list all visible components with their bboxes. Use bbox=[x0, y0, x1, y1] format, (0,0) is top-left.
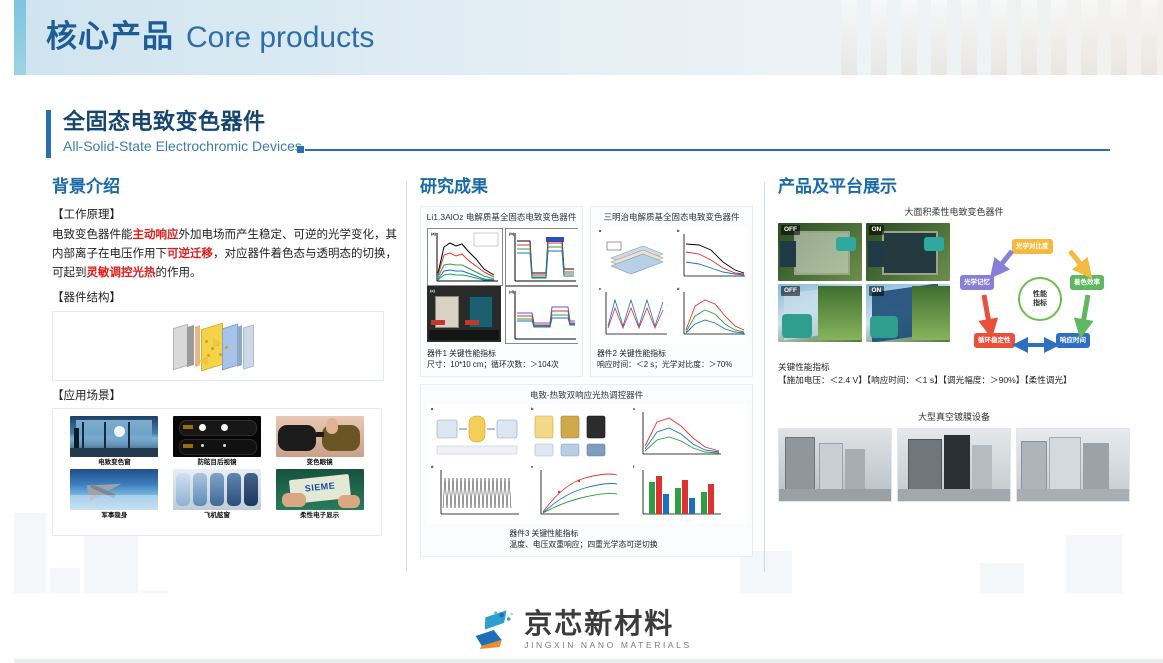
section-rule-dot bbox=[297, 146, 304, 153]
layer-transparent-conductor-1 bbox=[173, 324, 188, 371]
header-title-en: Core products bbox=[186, 21, 374, 54]
layer-transparent-conductor-2 bbox=[243, 324, 254, 369]
right-column-title: 产品及平台展示 bbox=[778, 176, 1130, 198]
scenario-caption: 电致变色窗 bbox=[65, 458, 164, 467]
logo-mark-icon bbox=[471, 610, 515, 650]
middle-column-title: 研究成果 bbox=[420, 176, 753, 198]
column-divider-1 bbox=[406, 182, 407, 572]
figure-panel-c-photo: (c) bbox=[427, 286, 501, 342]
left-edge-strip bbox=[0, 0, 14, 663]
scenario-image-flexible-display: SIEME bbox=[276, 469, 364, 510]
slide-footer: 京芯新材料 JINGXIN NANO MATERIALS bbox=[0, 593, 1163, 663]
result-card-1: Li1.3AlOz 电解质基全固态电致变色器件 (a) bbox=[420, 206, 583, 377]
result-card-1-header: Li1.3AlOz 电解质基全固态电致变色器件 bbox=[421, 207, 582, 226]
result-card-1-footer-detail: 尺寸：10*10 cm；循环次数：＞104次 bbox=[427, 359, 576, 370]
product-photo-on-2: ON bbox=[866, 284, 950, 342]
ion-flow-arrow-right bbox=[213, 338, 222, 348]
key-metrics-title: 关键性能指标 bbox=[778, 361, 1130, 374]
scenario-item: 电致变色窗 bbox=[65, 416, 164, 467]
footer-bar bbox=[0, 659, 1163, 663]
figure-panel-a: a bbox=[429, 406, 525, 461]
device-structure-figure bbox=[52, 311, 384, 381]
photo-state-badge: OFF bbox=[781, 286, 800, 296]
scenario-caption: 军事隐身 bbox=[65, 511, 164, 520]
key-metrics-detail: 【施加电压：＜2.4 V】【响应时间：＜1 s】【调光幅度：＞90%】【柔性调光… bbox=[778, 374, 1130, 387]
scenario-item: 飞机舷窗 bbox=[168, 469, 267, 520]
column-divider-2 bbox=[764, 182, 765, 572]
scene-label: 【应用场景】 bbox=[52, 387, 397, 405]
radial-node-coloration-efficiency: 着色效率 bbox=[1070, 275, 1104, 290]
result-card-1-footer-title: 器件1 关键性能指标 bbox=[427, 348, 576, 359]
slide-header: 核心产品Core products bbox=[0, 0, 1163, 75]
figure-panel-d: d bbox=[429, 464, 525, 522]
header-pillar-decoration bbox=[833, 0, 1163, 75]
scenario-image-electrochromic-window bbox=[70, 416, 158, 457]
principle-highlight-2: 可逆迁移 bbox=[167, 248, 213, 260]
radial-node-cycle-stability: 循环稳定性 bbox=[974, 333, 1015, 348]
result-card-2-figure: a b bbox=[595, 226, 748, 344]
principle-text-4: 的作用。 bbox=[156, 267, 202, 279]
product-photo-off-2: OFF bbox=[778, 284, 862, 342]
section-title-en: All-Solid-State Electrochromic Devices bbox=[63, 136, 302, 156]
radial-node-optical-contrast: 光学对比度 bbox=[1012, 239, 1053, 254]
figure-panel-d: d bbox=[675, 286, 748, 342]
section-title-group: 全固态电致变色器件 All-Solid-State Electrochromic… bbox=[46, 108, 302, 156]
structure-label: 【器件结构】 bbox=[52, 289, 397, 307]
right-column: 产品及平台展示 大面积柔性电致变色器件 OFF ON bbox=[778, 176, 1130, 502]
principle-highlight-3: 灵敏调控光热 bbox=[87, 267, 156, 279]
header-title-cn: 核心产品 bbox=[46, 19, 174, 54]
radial-center-node: 性能 指标 bbox=[1018, 277, 1062, 321]
figure-panel-e: e bbox=[529, 464, 625, 522]
application-scenarios-panel: 电致变色窗 防眩目后视镜 bbox=[52, 408, 382, 536]
principle-highlight-1: 主动响应 bbox=[133, 229, 179, 241]
scenario-caption: 飞机舷窗 bbox=[168, 511, 267, 520]
equipment-photo-1 bbox=[778, 428, 892, 502]
principle-label: 【工作原理】 bbox=[52, 206, 397, 224]
layer-stack-diagram bbox=[173, 320, 293, 374]
figure-panel-b: (b) bbox=[505, 228, 578, 286]
scenario-image-military-stealth bbox=[70, 469, 158, 510]
company-logo: 京芯新材料 JINGXIN NANO MATERIALS bbox=[471, 609, 692, 651]
result-card-3-footer-title: 器件3 关键性能指标 bbox=[509, 528, 657, 539]
result-card-1-footer: 器件1 关键性能指标 尺寸：10*10 cm；循环次数：＞104次 bbox=[421, 344, 582, 376]
product-photo-off-1: OFF bbox=[778, 223, 862, 281]
scenario-item: SIEME 柔性电子显示 bbox=[270, 469, 369, 520]
result-card-2-header: 三明治电解质基全固态电致变色器件 bbox=[591, 207, 752, 226]
figure-panel-d: (d) bbox=[505, 286, 578, 344]
figure-panel-b: b bbox=[529, 406, 625, 461]
equipment-photo-2 bbox=[897, 428, 1011, 502]
principle-text-1: 电致变色器件能 bbox=[52, 229, 133, 241]
left-column-title: 背景介绍 bbox=[52, 176, 397, 198]
figure-panel-c: c bbox=[597, 286, 671, 342]
scenario-image-aircraft-window bbox=[173, 469, 261, 510]
figure-panel-a: a bbox=[597, 228, 671, 284]
figure-panel-b: b bbox=[675, 228, 748, 284]
figure-panel-f: f bbox=[631, 464, 727, 522]
radial-center-line2: 指标 bbox=[1033, 299, 1047, 308]
photo-state-badge: ON bbox=[869, 286, 885, 296]
product-photo-grid: OFF ON OFF ON bbox=[778, 223, 950, 342]
middle-column: 研究成果 Li1.3AlOz 电解质基全固态电致变色器件 (a) bbox=[420, 176, 753, 557]
application-grid: 电致变色窗 防眩目后视镜 bbox=[53, 413, 381, 523]
result-card-2-footer: 器件2 关键性能指标 响应时间：＜2 s；光学对比度：＞70% bbox=[591, 344, 752, 376]
logo-text-cn: 京芯新材料 bbox=[524, 609, 692, 639]
result-card-3-footer: 器件3 关键性能指标 温度、电压双重响应；四重光学态可逆切换 bbox=[421, 524, 752, 556]
photo-state-badge: ON bbox=[869, 225, 885, 235]
product-photo-on-1: ON bbox=[866, 223, 950, 281]
layer-ion-storage bbox=[187, 325, 194, 367]
result-card-1-figure: (a) (b) bbox=[425, 226, 578, 344]
equipment-photo-row bbox=[778, 428, 1130, 502]
scenario-item: 防眩目后视镜 bbox=[168, 416, 267, 467]
performance-radial-diagram: 性能 指标 光学对比度 着色效率 响应时间 循环稳定性 光学记忆 bbox=[960, 237, 1128, 355]
result-card-3-figure: a b bbox=[427, 404, 746, 524]
section-accent-bar bbox=[46, 110, 51, 158]
column-background: 背景介绍 【工作原理】 电致变色器件能主动响应外加电场而产生稳定、可逆的光学变化… bbox=[52, 176, 397, 536]
radial-center-line1: 性能 bbox=[1033, 290, 1047, 299]
logo-text-en: JINGXIN NANO MATERIALS bbox=[524, 640, 692, 651]
figure-panel-a: (a) bbox=[427, 228, 503, 286]
radial-node-response-time: 响应时间 bbox=[1056, 333, 1090, 348]
principle-paragraph: 电致变色器件能主动响应外加电场而产生稳定、可逆的光学变化，其内部离子在电压作用下… bbox=[52, 226, 397, 283]
scenario-caption: 变色眼镜 bbox=[270, 458, 369, 467]
ion-flow-arrow-left bbox=[199, 356, 208, 366]
slide-root: 核心产品Core products 全固态电致变色器件 All-Solid-St… bbox=[0, 0, 1163, 663]
equipment-photo-3 bbox=[1016, 428, 1130, 502]
scenario-caption: 柔性电子显示 bbox=[270, 511, 369, 520]
scenario-image-antiglare-mirror bbox=[173, 416, 261, 457]
scenario-image-photochromic-glasses bbox=[276, 416, 364, 457]
result-card-2-footer-detail: 响应时间：＜2 s；光学对比度：＞70% bbox=[597, 359, 746, 370]
result-card-3: 电致-热致双响应光热调控器件 a b bbox=[420, 384, 753, 557]
scenario-caption: 防眩目后视镜 bbox=[168, 458, 267, 467]
result-card-3-header: 电致-热致双响应光热调控器件 bbox=[421, 385, 752, 404]
radial-node-optical-memory: 光学记忆 bbox=[960, 275, 994, 290]
section-rule bbox=[305, 149, 1110, 151]
result-card-2-footer-title: 器件2 关键性能指标 bbox=[597, 348, 746, 359]
scenario-item: 变色眼镜 bbox=[270, 416, 369, 467]
layer-barrier bbox=[237, 325, 242, 367]
flexible-device-caption: 大面积柔性电致变色器件 bbox=[778, 206, 1130, 218]
section-title-cn: 全固态电致变色器件 bbox=[63, 108, 302, 136]
result-card-3-footer-detail: 温度、电压双重响应；四重光学态可逆切换 bbox=[509, 539, 657, 550]
photo-state-badge: OFF bbox=[781, 225, 800, 235]
scenario-item: 军事隐身 bbox=[65, 469, 164, 520]
header-title: 核心产品Core products bbox=[46, 14, 374, 61]
figure-panel-c: c bbox=[631, 406, 727, 461]
equipment-caption: 大型真空镀膜设备 bbox=[778, 411, 1130, 423]
result-card-2: 三明治电解质基全固态电致变色器件 a b bbox=[590, 206, 753, 377]
